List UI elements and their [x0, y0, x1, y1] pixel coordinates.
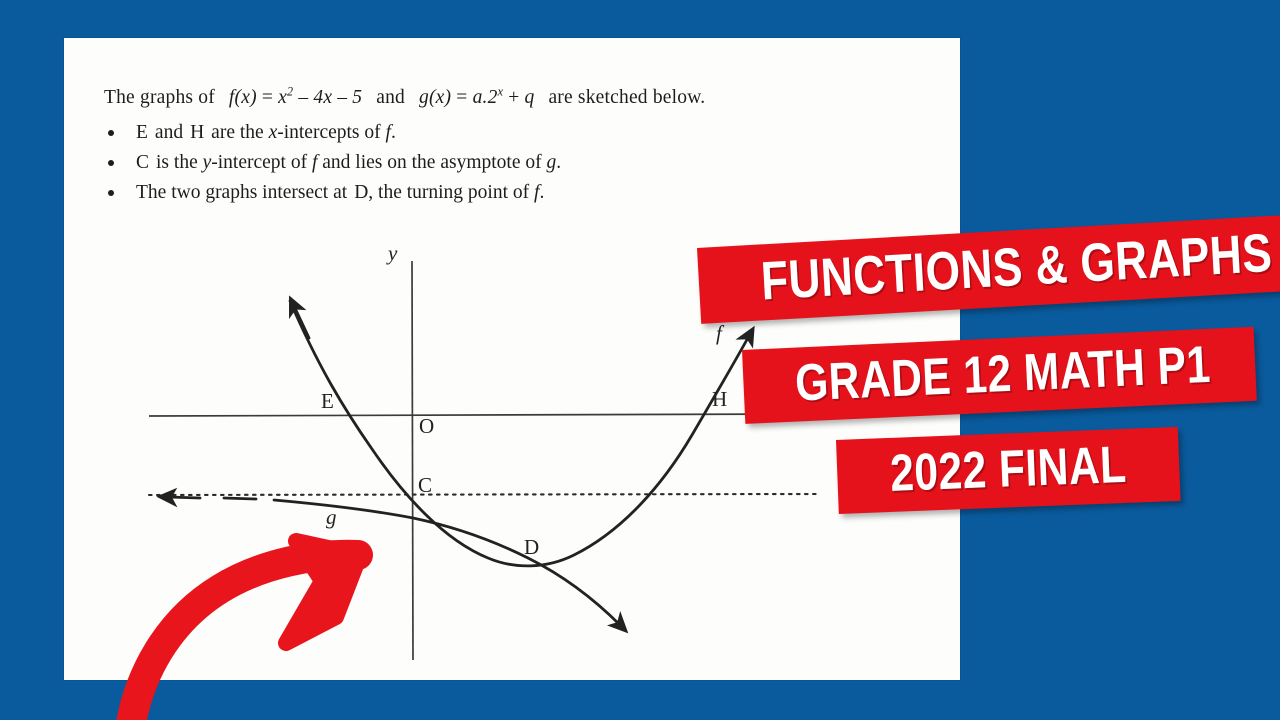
- g-expression: g(x) = a.2x + q: [419, 87, 534, 108]
- x-axis: [149, 414, 804, 416]
- bullet-text-1: EandHare the x-intercepts of f.: [136, 122, 396, 143]
- label-point-h: H: [712, 387, 727, 411]
- bullet-dot-icon: [108, 130, 114, 136]
- asymptote-of-g: [149, 494, 816, 495]
- problem-intro-line: The graphs off(x) = x2 – 4x – 5andg(x) =…: [104, 83, 914, 112]
- banner-2-text: GRADE 12 MATH P1: [794, 339, 1212, 410]
- curve-g-left-arrowhead: [168, 497, 200, 498]
- problem-statement: The graphs off(x) = x2 – 4x – 5andg(x) =…: [104, 83, 914, 208]
- bullet-item-1: EandHare the x-intercepts of f.: [104, 118, 914, 148]
- bullet-dot-icon: [108, 160, 114, 166]
- problem-bullets: EandHare the x-intercepts of f. Cis the …: [104, 118, 914, 208]
- bullet-item-2: Cis the y-intercept of f and lies on the…: [104, 148, 914, 178]
- label-y-axis: y: [386, 241, 398, 265]
- thumbnail-canvas: The graphs off(x) = x2 – 4x – 5andg(x) =…: [0, 0, 1280, 720]
- curve-f-left-arrow-tail: [294, 306, 309, 338]
- bullet-item-3: The two graphs intersect atD, the turnin…: [104, 178, 914, 208]
- bullet-text-3: The two graphs intersect atD, the turnin…: [136, 182, 544, 203]
- f-expression: f(x) = x2 – 4x – 5: [229, 87, 362, 108]
- bullet-dot-icon: [108, 190, 114, 196]
- label-point-d: D: [524, 535, 539, 559]
- intro-conjunction: and: [376, 87, 405, 108]
- banner-2022-final: 2022 FINAL: [836, 427, 1181, 514]
- label-origin: O: [419, 414, 434, 438]
- label-curve-f: f: [716, 321, 725, 345]
- banner-3-text: 2022 FINAL: [889, 439, 1127, 500]
- curve-g-left-arrow-tail: [224, 498, 256, 499]
- label-point-c: C: [418, 473, 432, 497]
- intro-lead: The graphs of: [104, 87, 215, 108]
- label-point-e: E: [321, 389, 334, 413]
- bullet-text-2: Cis the y-intercept of f and lies on the…: [136, 152, 561, 173]
- y-axis: [412, 261, 413, 660]
- curve-f-parabola: [290, 301, 749, 566]
- intro-tail: are sketched below.: [548, 87, 705, 108]
- label-curve-g: g: [326, 505, 337, 529]
